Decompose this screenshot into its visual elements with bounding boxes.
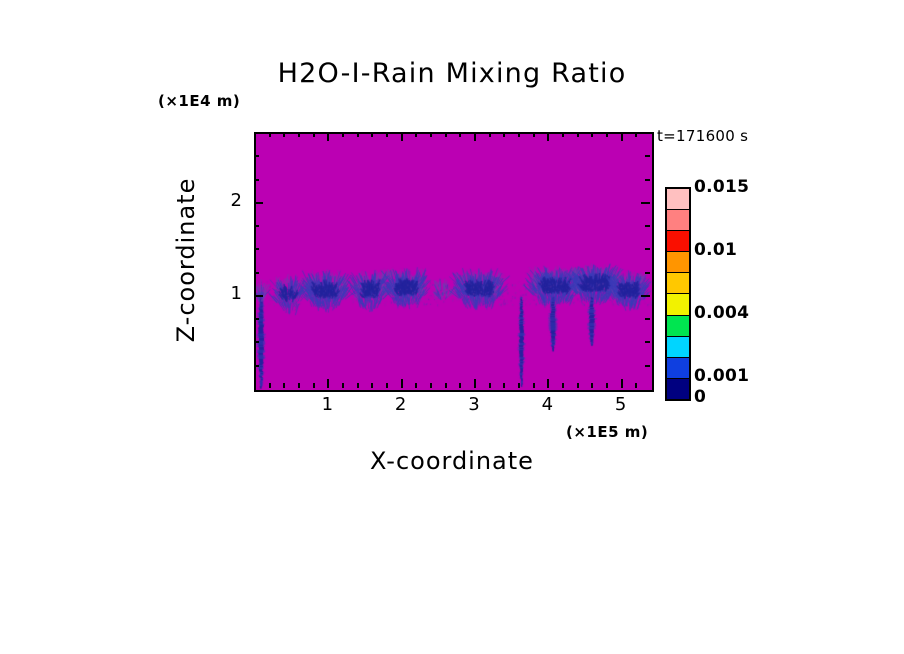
colorbar-band bbox=[667, 189, 689, 210]
y-tick bbox=[254, 248, 259, 250]
y-tick-label: 2 bbox=[212, 190, 242, 211]
y-tick bbox=[254, 318, 259, 320]
y-tick bbox=[254, 155, 259, 157]
x-tick bbox=[518, 132, 520, 137]
x-tick bbox=[415, 132, 417, 137]
x-tick-label: 1 bbox=[307, 394, 347, 415]
x-tick bbox=[459, 132, 461, 137]
x-tick bbox=[269, 132, 271, 137]
x-tick bbox=[606, 383, 608, 388]
y-tick bbox=[254, 272, 259, 274]
x-tick bbox=[342, 132, 344, 137]
figure-canvas: H2O-I-Rain Mixing Ratio (×1E4 m) t=17160… bbox=[0, 0, 904, 654]
x-tick bbox=[518, 383, 520, 388]
x-tick bbox=[503, 132, 505, 137]
colorbar-band bbox=[667, 294, 689, 315]
x-tick bbox=[547, 132, 549, 141]
x-tick bbox=[327, 379, 329, 388]
y-tick bbox=[645, 318, 650, 320]
x-tick bbox=[283, 383, 285, 388]
y-tick bbox=[254, 295, 263, 297]
x-tick bbox=[621, 132, 623, 141]
x-tick bbox=[401, 132, 403, 141]
y-tick bbox=[645, 179, 650, 181]
x-tick bbox=[342, 383, 344, 388]
y-tick bbox=[254, 365, 259, 367]
colorbar-band bbox=[667, 252, 689, 273]
x-tick bbox=[577, 383, 579, 388]
y-tick bbox=[645, 225, 650, 227]
x-tick bbox=[283, 132, 285, 137]
colorbar-band bbox=[667, 358, 689, 379]
y-tick bbox=[641, 295, 650, 297]
x-tick bbox=[562, 383, 564, 388]
x-tick bbox=[489, 132, 491, 137]
colorbar-band bbox=[667, 316, 689, 337]
x-axis-unit-label: (×1E5 m) bbox=[566, 423, 648, 441]
x-tick bbox=[577, 132, 579, 137]
y-tick bbox=[645, 248, 650, 250]
x-tick-label: 3 bbox=[454, 394, 494, 415]
x-tick bbox=[635, 383, 637, 388]
colorbar-tick-label: 0.004 bbox=[694, 303, 749, 323]
x-axis-title: X-coordinate bbox=[0, 447, 904, 475]
x-tick bbox=[459, 383, 461, 388]
x-tick bbox=[445, 132, 447, 137]
y-axis-title: Z-coordinate bbox=[172, 178, 200, 343]
x-tick-label: 5 bbox=[601, 394, 641, 415]
x-tick bbox=[547, 379, 549, 388]
x-tick bbox=[313, 132, 315, 137]
y-tick bbox=[254, 225, 259, 227]
x-tick bbox=[635, 132, 637, 137]
x-tick bbox=[591, 132, 593, 137]
y-axis-unit-label: (×1E4 m) bbox=[158, 92, 240, 110]
x-tick bbox=[562, 132, 564, 137]
time-stamp-label: t=171600 s bbox=[657, 127, 748, 145]
page-title: H2O-I-Rain Mixing Ratio bbox=[0, 58, 904, 89]
x-tick bbox=[621, 379, 623, 388]
x-tick-label: 2 bbox=[381, 394, 421, 415]
x-tick bbox=[489, 383, 491, 388]
x-tick bbox=[430, 132, 432, 137]
colorbar-band bbox=[667, 337, 689, 358]
x-tick bbox=[357, 132, 359, 137]
x-tick bbox=[298, 132, 300, 137]
x-tick bbox=[298, 383, 300, 388]
x-tick bbox=[503, 383, 505, 388]
y-tick bbox=[645, 272, 650, 274]
x-tick bbox=[591, 383, 593, 388]
x-tick bbox=[430, 383, 432, 388]
colorbar-band bbox=[667, 231, 689, 252]
contour-field bbox=[256, 134, 652, 390]
y-tick bbox=[645, 341, 650, 343]
x-tick bbox=[401, 379, 403, 388]
x-tick bbox=[386, 132, 388, 137]
x-tick bbox=[386, 383, 388, 388]
y-tick bbox=[645, 155, 650, 157]
x-tick bbox=[533, 132, 535, 137]
x-tick bbox=[313, 383, 315, 388]
y-tick bbox=[641, 202, 650, 204]
x-tick bbox=[269, 383, 271, 388]
x-tick bbox=[415, 383, 417, 388]
x-tick bbox=[371, 132, 373, 137]
colorbar-tick-label: 0.001 bbox=[694, 366, 749, 386]
x-tick bbox=[445, 383, 447, 388]
colorbar bbox=[665, 187, 691, 401]
x-tick bbox=[533, 383, 535, 388]
x-tick bbox=[327, 132, 329, 141]
x-tick bbox=[606, 132, 608, 137]
y-tick bbox=[254, 179, 259, 181]
y-tick bbox=[254, 341, 259, 343]
colorbar-band bbox=[667, 210, 689, 231]
y-tick bbox=[645, 365, 650, 367]
y-tick-label: 1 bbox=[212, 283, 242, 304]
y-tick bbox=[254, 202, 263, 204]
x-tick-label: 4 bbox=[527, 394, 567, 415]
x-tick bbox=[474, 132, 476, 141]
colorbar-band bbox=[667, 379, 689, 399]
x-tick bbox=[371, 383, 373, 388]
colorbar-tick-label: 0.01 bbox=[694, 240, 737, 260]
colorbar-tick-label: 0 bbox=[694, 387, 706, 407]
x-tick bbox=[474, 379, 476, 388]
plot-panel bbox=[254, 132, 654, 392]
colorbar-tick-label: 0.015 bbox=[694, 177, 749, 197]
x-tick bbox=[357, 383, 359, 388]
colorbar-band bbox=[667, 273, 689, 294]
